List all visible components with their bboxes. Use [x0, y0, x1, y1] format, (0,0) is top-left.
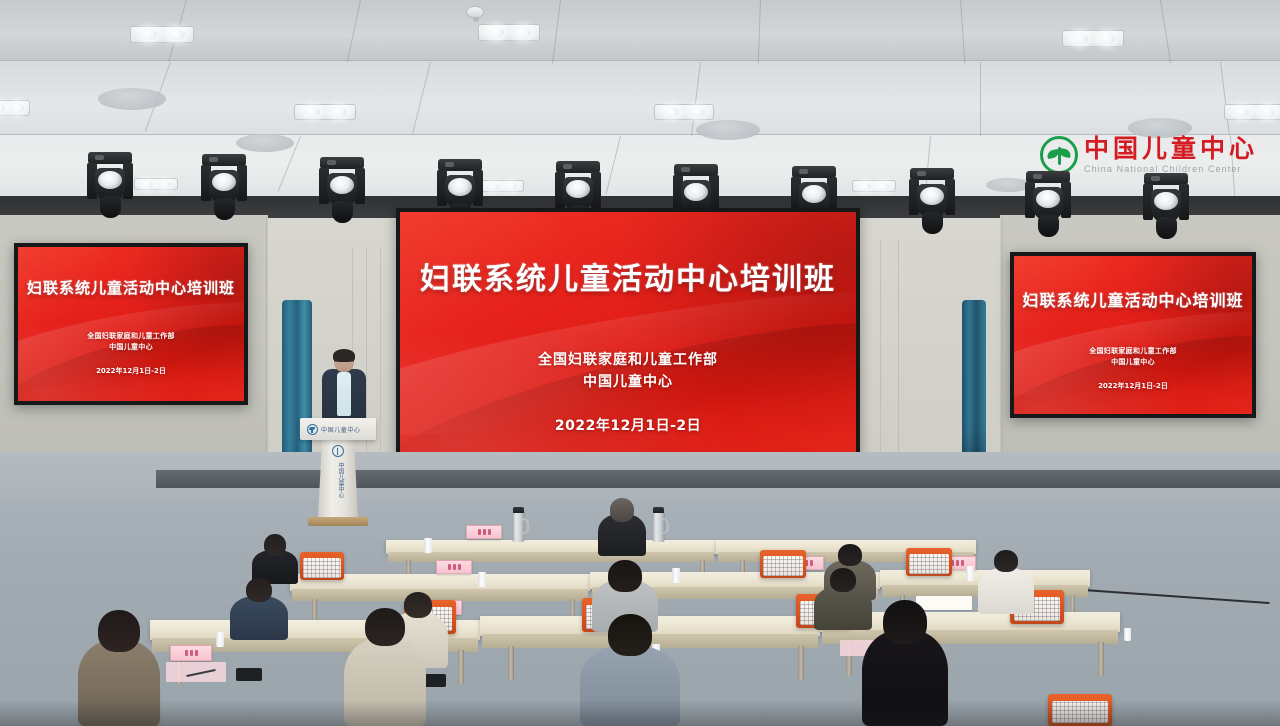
led-screen-main: 妇联系统儿童活动中心培训班 全国妇联家庭和儿童工作部 中国儿童中心 2022年1… — [396, 208, 860, 458]
ceiling-speaker — [236, 134, 294, 152]
leaf-right-icon — [1058, 148, 1071, 158]
smoke-detector-icon — [466, 6, 484, 18]
organizer-line-1: 全国妇联家庭和儿童工作部 — [1089, 346, 1177, 357]
wall-panel-seam — [380, 248, 381, 472]
moving-head-light — [198, 154, 250, 220]
table-leg — [508, 646, 514, 680]
audience-chair — [760, 550, 806, 578]
left-screen-date: 2022年12月1日-2日 — [96, 366, 166, 376]
light-lens-icon — [212, 173, 236, 191]
sprout-circle-icon — [307, 424, 318, 435]
recessed-ceiling-light — [1224, 104, 1280, 120]
right-screen-organizer: 全国妇联家庭和儿童工作部 中国儿童中心 — [1089, 346, 1177, 368]
left-screen-organizer: 全国妇联家庭和儿童工作部 中国儿童中心 — [87, 331, 175, 353]
table-leg — [798, 646, 804, 680]
moving-head-light — [1140, 173, 1192, 239]
right-screen-title: 妇联系统儿童活动中心培训班 — [1022, 287, 1243, 311]
recessed-ceiling-light — [480, 180, 524, 192]
water-cup — [424, 538, 432, 553]
ceiling-speaker — [696, 120, 760, 140]
attendee — [230, 578, 288, 640]
ceiling-seam — [0, 60, 1280, 61]
water-cup — [966, 566, 974, 581]
light-lens-icon — [98, 171, 122, 189]
ceiling-mid-plane — [0, 60, 1280, 138]
leaf-left-icon — [1046, 149, 1059, 159]
thermos-flask — [652, 512, 665, 542]
recessed-ceiling-light — [852, 180, 896, 192]
recessed-ceiling-light — [134, 178, 178, 190]
attendee — [252, 534, 298, 584]
light-lens-icon — [802, 185, 826, 203]
moving-head-light — [1022, 171, 1074, 237]
stage-curtain-right — [962, 300, 986, 460]
light-lens-icon — [1154, 192, 1178, 210]
conference-hall-scene: 中国儿童中心 China National Children Center 妇联… — [0, 0, 1280, 726]
water-cup — [478, 572, 486, 587]
water-cup — [1124, 628, 1131, 641]
name-placard — [170, 645, 212, 661]
recessed-ceiling-light — [478, 24, 540, 41]
recessed-ceiling-light — [0, 100, 30, 116]
recessed-ceiling-light — [1062, 30, 1124, 47]
led-screen-left: 妇联系统儿童活动中心培训班 全国妇联家庭和儿童工作部 中国儿童中心 2022年1… — [14, 243, 248, 405]
sprout-circle-icon — [332, 445, 344, 457]
organizer-line-1: 全国妇联家庭和儿童工作部 — [87, 331, 175, 342]
attendee — [978, 550, 1034, 614]
lectern: 中国儿童中心 中国儿童中心 — [300, 418, 376, 530]
left-screen-title: 妇联系统儿童活动中心培训班 — [27, 277, 235, 298]
light-lens-icon — [448, 178, 472, 196]
foreground-vignette — [0, 700, 1280, 726]
recessed-ceiling-light — [130, 26, 194, 43]
light-lens-icon — [1036, 190, 1060, 208]
sprout-circle-icon — [1040, 136, 1078, 174]
water-cup — [216, 632, 224, 647]
attendee — [598, 498, 646, 556]
lectern-column-label: 中国儿童中心 — [334, 462, 344, 498]
audience-chair — [906, 548, 952, 576]
brand-name-chinese: 中国儿童中心 — [1084, 136, 1258, 161]
light-lens-icon — [566, 180, 590, 198]
ceiling-grid-line — [980, 62, 981, 136]
lectern-front-panel: 中国儿童中心 — [300, 418, 376, 440]
main-screen-title: 妇联系统儿童活动中心培训班 — [420, 254, 836, 298]
led-screen-right: 妇联系统儿童活动中心培训班 全国妇联家庭和儿童工作部 中国儿童中心 2022年1… — [1010, 252, 1256, 418]
venue-brand-logo: 中国儿童中心 China National Children Center — [1040, 136, 1258, 174]
table-leg — [458, 650, 464, 684]
main-screen-date: 2022年12月1日-2日 — [555, 415, 701, 435]
light-lens-icon — [920, 187, 944, 205]
organizer-line-2: 中国儿童中心 — [87, 342, 175, 353]
organizer-line-2: 中国儿童中心 — [1089, 357, 1177, 368]
organizer-line-1: 全国妇联家庭和儿童工作部 — [538, 350, 718, 372]
name-placard — [436, 560, 472, 574]
wall-panel-seam — [898, 240, 899, 454]
thermos-flask — [512, 512, 525, 542]
main-screen-organizer: 全国妇联家庭和儿童工作部 中国儿童中心 — [538, 350, 718, 393]
water-cup — [672, 568, 680, 583]
name-placard — [466, 525, 502, 539]
organizer-line-2: 中国儿童中心 — [538, 372, 718, 394]
lectern-front-label: 中国儿童中心 — [321, 425, 361, 434]
lectern-column: 中国儿童中心 — [318, 440, 358, 518]
light-lens-icon — [684, 183, 708, 201]
lectern-base — [308, 517, 368, 526]
moving-head-light — [84, 152, 136, 218]
right-screen-date: 2022年12月1日-2日 — [1098, 381, 1168, 391]
recessed-ceiling-light — [294, 104, 356, 120]
audience-chair — [300, 552, 344, 580]
recessed-ceiling-light — [654, 104, 714, 120]
light-lens-icon — [330, 176, 354, 194]
smartphone — [236, 668, 262, 681]
table-leg — [1098, 642, 1104, 676]
wall-panel-seam — [880, 240, 881, 454]
ceiling-speaker — [98, 88, 166, 110]
presenter-at-podium — [322, 350, 366, 422]
moving-head-light — [316, 157, 368, 223]
moving-head-light — [906, 168, 958, 234]
